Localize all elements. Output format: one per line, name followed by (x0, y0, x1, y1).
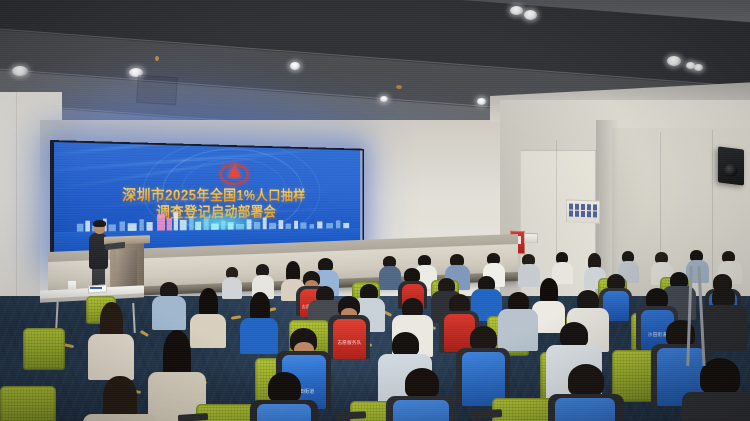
speaker-cone-icon (724, 164, 737, 177)
chair-armrest (178, 413, 208, 421)
audience-seating: 志愿服务队 (0, 236, 750, 421)
recessed-downlight (477, 98, 486, 105)
volunteer-vest-red (333, 319, 366, 359)
audience-chair (23, 328, 65, 370)
wall-sign-text-line (569, 204, 597, 211)
wall-sign (566, 199, 600, 223)
vest-text: 志愿服务队 (333, 340, 366, 346)
recessed-downlight (510, 6, 523, 15)
recessed-downlight (524, 10, 537, 20)
volunteer-vest-blue (393, 400, 449, 421)
wall-sign-text-line (569, 211, 597, 218)
audience-chair (0, 386, 56, 421)
volunteer-vest-blue (257, 404, 311, 421)
chair-armrest (470, 409, 502, 419)
speaker-hair (93, 220, 106, 227)
recessed-downlight (290, 62, 300, 70)
recessed-downlight (667, 56, 681, 66)
recessed-downlight (380, 96, 388, 102)
sprinkler-head-icon (155, 56, 159, 61)
sprinkler-head-icon (396, 85, 402, 89)
recessed-downlight (694, 64, 703, 71)
ceiling-access-panel (136, 75, 178, 106)
conference-hall-photo: 深圳市2025年全国1%人口抽样 调查登记启动部署会 (0, 0, 750, 421)
volunteer-vest-blue (555, 398, 615, 421)
recessed-downlight (12, 66, 28, 76)
